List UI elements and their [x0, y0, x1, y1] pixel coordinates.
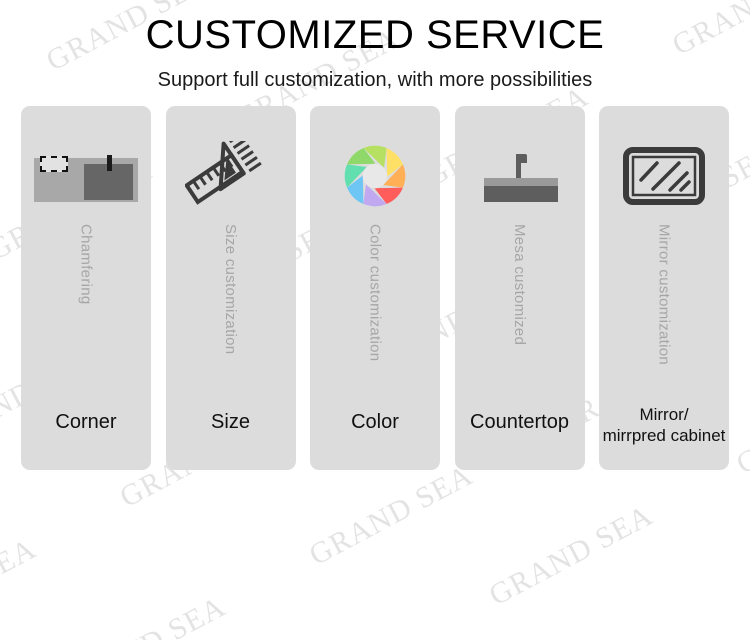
sink-countertop-icon [455, 136, 585, 216]
card-label: Size [166, 411, 296, 434]
card-vertical-text-wrap: Color customization [310, 224, 440, 424]
watermark-text: GRAND SEA [0, 532, 42, 640]
card-vertical-text: Mirror customization [656, 224, 673, 365]
card-vertical-text: Color customization [367, 224, 384, 361]
card-vertical-text-wrap: Chamfering [21, 224, 151, 424]
card-vertical-text-wrap: Size customization [166, 224, 296, 424]
chamfer-corner-icon [21, 136, 151, 216]
card-size[interactable]: Size customization Size [166, 106, 296, 470]
watermark-text: GRAND SEA [237, 630, 411, 640]
counter-body-shape [484, 186, 558, 202]
corner-selection-marquee [40, 156, 68, 172]
card-label: Countertop [455, 411, 585, 434]
faucet-shape [107, 155, 112, 171]
mirror-icon [599, 136, 729, 216]
page-title: CUSTOMIZED SERVICE [0, 12, 750, 58]
card-vertical-text: Size customization [222, 224, 239, 354]
page-subtitle: Support full customization, with more po… [0, 68, 750, 92]
color-wheel-icon [310, 136, 440, 216]
counter-top-edge-shape [484, 178, 558, 186]
ruler-triangle-icon [166, 136, 296, 216]
card-vertical-text-wrap: Mirror customization [599, 224, 729, 424]
card-vertical-text: Mesa customized [511, 224, 528, 345]
watermark-text: GRAND SEA [484, 499, 658, 613]
watermark-text: GRAND SEA [304, 458, 478, 572]
card-label: Mirror/ mirrpred cabinet [591, 404, 737, 446]
card-color[interactable]: Color customization Color [310, 106, 440, 470]
card-vertical-text: Chamfering [78, 224, 95, 305]
card-mirror[interactable]: Mirror customization Mirror/ mirrpred ca… [599, 106, 729, 470]
watermark-text: GRAND SEA [57, 590, 231, 640]
card-corner[interactable]: Chamfering Corner [21, 106, 151, 470]
card-label: Color [310, 411, 440, 434]
customization-card-row: Chamfering Corner [21, 106, 729, 470]
header: CUSTOMIZED SERVICE Support full customiz… [0, 0, 750, 92]
card-countertop[interactable]: Mesa customized Countertop [455, 106, 585, 470]
card-label-line1: Mirror/ [591, 404, 737, 425]
color-wheel-center [363, 164, 387, 188]
card-vertical-text-wrap: Mesa customized [455, 224, 585, 424]
card-label: Corner [21, 411, 151, 434]
faucet-post-shape [516, 154, 521, 180]
card-label-line2: mirrpred cabinet [591, 425, 737, 446]
